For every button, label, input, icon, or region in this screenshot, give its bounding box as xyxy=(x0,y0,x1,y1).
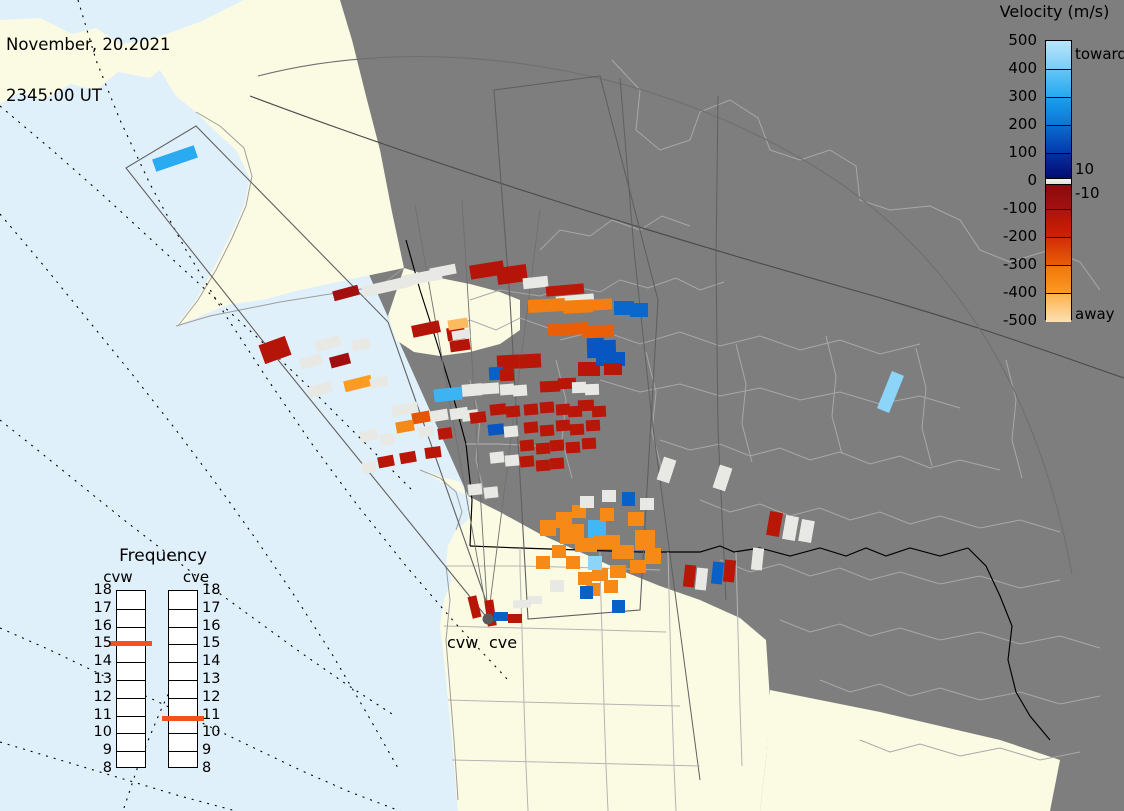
frequency-tick-line xyxy=(169,751,197,752)
velocity-cell xyxy=(520,439,535,451)
colorbar-tick: -100 xyxy=(1003,199,1037,217)
frequency-scale-box xyxy=(116,590,146,768)
frequency-tick-line xyxy=(169,662,197,663)
frequency-scale-label: 13 xyxy=(90,671,112,687)
timestamp: November, 20.2021 2345:00 UT xyxy=(6,2,171,138)
velocity-cell xyxy=(508,614,522,623)
colorbar-tick: 0 xyxy=(1027,171,1037,189)
velocity-cell xyxy=(481,382,500,394)
frequency-scale-label: 12 xyxy=(202,689,220,705)
frequency-scale-label: 17 xyxy=(90,600,112,616)
velocity-cell xyxy=(566,556,580,569)
colorbar-segment xyxy=(1046,41,1071,69)
colorbar-side-label: 10 xyxy=(1075,160,1094,178)
velocity-colorbar: Velocity (m/s) 5004003002001000-100-200-… xyxy=(985,0,1124,340)
velocity-cell xyxy=(572,382,586,393)
frequency-tick-line xyxy=(169,698,197,699)
velocity-cell xyxy=(552,545,566,558)
velocity-cell xyxy=(723,559,736,582)
colorbar-gradient xyxy=(1045,40,1072,320)
frequency-scale-label: 15 xyxy=(202,635,220,651)
velocity-cell xyxy=(580,496,594,508)
velocity-cell xyxy=(550,458,565,470)
velocity-cell xyxy=(506,405,521,417)
velocity-cell xyxy=(528,596,542,604)
velocity-cell xyxy=(469,411,486,424)
velocity-cell xyxy=(602,490,616,502)
frequency-tick-line xyxy=(117,698,145,699)
colorbar-segment xyxy=(1046,125,1071,154)
frequency-value-marker xyxy=(162,716,204,721)
velocity-cell xyxy=(570,424,585,436)
velocity-cell xyxy=(645,548,661,564)
colorbar-tick: -400 xyxy=(1003,283,1037,301)
frequency-scale-label: 9 xyxy=(202,742,211,758)
frequency-tick-line xyxy=(117,627,145,628)
velocity-cell xyxy=(612,545,634,559)
velocity-cell xyxy=(582,324,614,337)
colorbar-segment xyxy=(1046,209,1071,238)
velocity-cell xyxy=(483,486,498,498)
colorbar-segment xyxy=(1046,237,1071,266)
velocity-cell xyxy=(575,538,597,552)
velocity-cell xyxy=(424,446,441,459)
velocity-cell xyxy=(600,508,614,521)
frequency-legend-title: Frequency xyxy=(88,546,238,566)
colorbar-tick: -300 xyxy=(1003,255,1037,273)
frequency-scale-label: 10 xyxy=(202,724,220,740)
frequency-scale-label: 16 xyxy=(90,618,112,634)
frequency-tick-line xyxy=(117,609,145,610)
timestamp-date: November, 20.2021 xyxy=(6,36,171,53)
frequency-value-marker xyxy=(110,641,152,646)
frequency-tick-line xyxy=(117,716,145,717)
velocity-cell xyxy=(566,442,581,454)
velocity-cell xyxy=(563,299,594,314)
frequency-scale-label: 18 xyxy=(90,582,112,598)
velocity-cell xyxy=(519,353,542,368)
colorbar-title: Velocity (m/s) xyxy=(985,2,1124,21)
frequency-scale-label: 14 xyxy=(90,653,112,669)
frequency-scale-box xyxy=(168,590,198,768)
velocity-cell xyxy=(540,402,555,414)
frequency-tick-line xyxy=(117,680,145,681)
frequency-scale-label: 16 xyxy=(202,618,220,634)
velocity-cell xyxy=(683,564,696,587)
radar-label-cve: cve xyxy=(489,633,517,652)
velocity-cell xyxy=(489,403,506,416)
frequency-scale-label: 17 xyxy=(202,600,220,616)
timestamp-time: 2345:00 UT xyxy=(6,87,171,104)
colorbar-segment xyxy=(1046,97,1071,126)
colorbar-segment xyxy=(1046,153,1071,179)
velocity-cell xyxy=(590,298,613,310)
colorbar-tick: 400 xyxy=(1008,59,1037,77)
velocity-cell xyxy=(578,400,595,412)
velocity-cell xyxy=(586,420,601,432)
velocity-cell xyxy=(582,438,597,450)
colorbar-tick: -200 xyxy=(1003,227,1037,245)
colorbar-side-label: toward xyxy=(1075,45,1124,63)
colorbar-segment xyxy=(1046,293,1071,322)
colorbar-segment xyxy=(1046,69,1071,98)
velocity-cell xyxy=(630,303,648,317)
velocity-cell xyxy=(635,530,655,550)
velocity-cell xyxy=(540,520,556,536)
velocity-cell xyxy=(520,455,535,467)
velocity-cell xyxy=(467,483,482,495)
velocity-cell xyxy=(504,425,519,437)
velocity-cell xyxy=(505,454,520,466)
superdarn-fan-plot: November, 20.2021 2345:00 UT Velocity (m… xyxy=(0,0,1124,811)
frequency-scale-label: 11 xyxy=(90,707,112,723)
velocity-cell xyxy=(550,440,565,452)
colorbar-tick: 200 xyxy=(1008,115,1037,133)
velocity-cell xyxy=(437,427,452,440)
frequency-tick-line xyxy=(117,751,145,752)
velocity-cell xyxy=(612,600,625,613)
velocity-cell xyxy=(540,380,561,392)
velocity-cell xyxy=(628,512,644,526)
colorbar-side-label: away xyxy=(1075,305,1115,323)
radar-station-marker xyxy=(483,614,494,625)
velocity-cell xyxy=(536,556,550,569)
frequency-column-cve: cve18171615141312111098 xyxy=(166,568,226,783)
frequency-scale-label: 11 xyxy=(202,707,220,723)
frequency-scale-label: 12 xyxy=(90,689,112,705)
velocity-cell xyxy=(640,498,654,510)
velocity-cell xyxy=(592,406,607,418)
frequency-scale-label: 13 xyxy=(202,671,220,687)
velocity-cell xyxy=(610,565,626,578)
frequency-column-cvw: cvw18171615141312111098 xyxy=(88,568,148,783)
colorbar-segment xyxy=(1046,265,1071,294)
velocity-cell xyxy=(536,460,551,472)
colorbar-segment xyxy=(1046,184,1071,210)
velocity-cell xyxy=(494,612,508,621)
velocity-cell xyxy=(540,425,555,437)
frequency-tick-line xyxy=(169,680,197,681)
colorbar-tick: 100 xyxy=(1008,143,1037,161)
velocity-cell xyxy=(695,567,708,590)
frequency-tick-line xyxy=(169,644,197,645)
colorbar-side-labels: toward10-10away xyxy=(1075,40,1124,330)
frequency-scale-label: 18 xyxy=(202,582,220,598)
frequency-scale-label: 15 xyxy=(90,635,112,651)
radar-label-cvw: cvw xyxy=(447,633,478,652)
frequency-scale-label: 8 xyxy=(90,760,112,776)
velocity-cell xyxy=(711,561,724,584)
velocity-cell xyxy=(588,556,602,570)
velocity-cell xyxy=(524,421,539,433)
colorbar-tick: -500 xyxy=(1003,311,1037,329)
velocity-cell xyxy=(550,580,564,592)
frequency-tick-line xyxy=(169,627,197,628)
velocity-cell xyxy=(489,451,504,463)
velocity-cell xyxy=(513,385,528,397)
velocity-cell xyxy=(524,403,539,415)
frequency-tick-line xyxy=(117,733,145,734)
velocity-cell xyxy=(536,443,551,455)
frequency-tick-line xyxy=(169,609,197,610)
velocity-cell xyxy=(622,492,635,506)
velocity-cell xyxy=(462,383,483,397)
velocity-cell xyxy=(630,560,646,573)
velocity-cell xyxy=(500,384,515,396)
frequency-scale-label: 8 xyxy=(202,760,211,776)
velocity-cell xyxy=(487,423,504,436)
velocity-cell xyxy=(604,580,618,593)
frequency-legend: Frequency cvw18171615141312111098 cve181… xyxy=(88,546,238,796)
frequency-tick-line xyxy=(117,662,145,663)
frequency-tick-line xyxy=(169,733,197,734)
frequency-scale-label: 9 xyxy=(90,742,112,758)
frequency-scale-label: 14 xyxy=(202,653,220,669)
velocity-cell xyxy=(556,420,571,432)
colorbar-tick-labels: 5004003002001000-100-200-300-400-500 xyxy=(985,40,1041,320)
velocity-cell xyxy=(580,586,593,599)
velocity-cell xyxy=(751,547,764,570)
velocity-cell xyxy=(585,384,599,395)
colorbar-tick: 500 xyxy=(1008,31,1037,49)
velocity-cell xyxy=(528,298,566,313)
colorbar-tick: 300 xyxy=(1008,87,1037,105)
velocity-cell xyxy=(604,363,622,375)
velocity-cell xyxy=(500,369,515,382)
frequency-scale-label: 10 xyxy=(90,724,112,740)
colorbar-side-label: -10 xyxy=(1075,184,1100,202)
